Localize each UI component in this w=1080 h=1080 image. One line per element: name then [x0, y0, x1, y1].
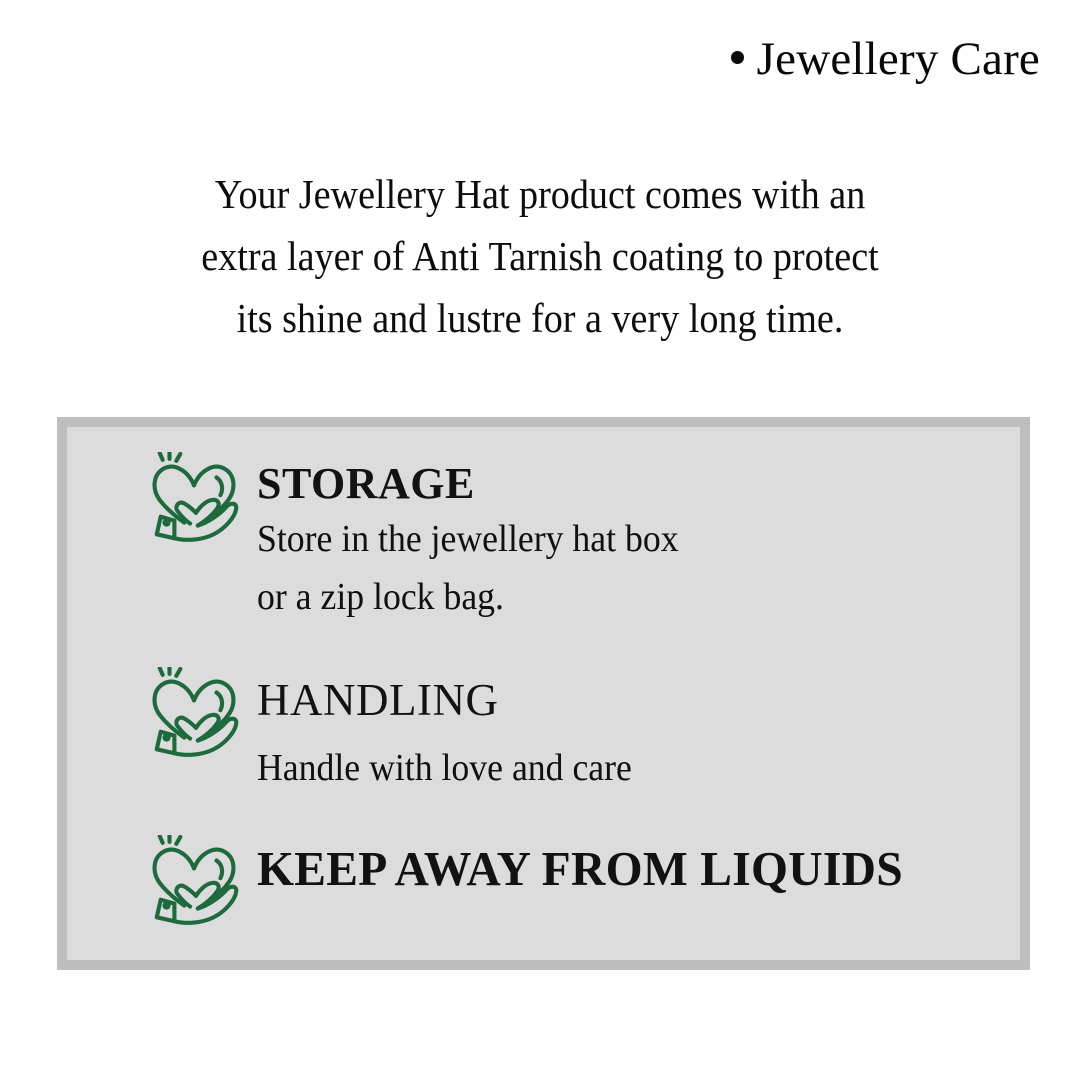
- heart-in-hand-icon: [145, 452, 243, 550]
- page-title: Jewellery Care: [40, 34, 1040, 86]
- care-row-storage-description-line-2: or a zip lock bag.: [257, 568, 679, 626]
- care-row-liquids: KEEP AWAY FROM LIQUIDS: [145, 835, 923, 933]
- care-row-handling: HANDLING Handle with love and care: [145, 667, 656, 797]
- care-row-handling-description: Handle with love and care: [257, 739, 632, 797]
- intro-paragraph: Your Jewellery Hat product comes with an…: [94, 163, 987, 349]
- page-title-text: Jewellery Care: [757, 33, 1040, 85]
- care-row-storage-description-line-1: Store in the jewellery hat box: [257, 510, 679, 568]
- care-row-storage: STORAGE Store in the jewellery hat box o…: [145, 452, 706, 626]
- care-row-handling-text: HANDLING Handle with love and care: [257, 667, 656, 797]
- heart-in-hand-icon: [145, 835, 243, 933]
- care-row-storage-heading: STORAGE: [257, 458, 706, 510]
- care-row-liquids-heading: KEEP AWAY FROM LIQUIDS: [257, 841, 903, 897]
- intro-line-1: Your Jewellery Hat product comes with an: [94, 163, 987, 225]
- care-row-storage-text: STORAGE Store in the jewellery hat box o…: [257, 452, 706, 626]
- care-row-handling-heading: HANDLING: [257, 673, 656, 727]
- care-row-handling-description-line-1: Handle with love and care: [257, 739, 632, 797]
- care-row-storage-description: Store in the jewellery hat box or a zip …: [257, 510, 679, 626]
- care-row-liquids-text: KEEP AWAY FROM LIQUIDS: [257, 835, 923, 897]
- bullet-icon: [731, 51, 744, 64]
- care-instructions-box: STORAGE Store in the jewellery hat box o…: [57, 417, 1030, 970]
- intro-line-3: its shine and lustre for a very long tim…: [94, 287, 987, 349]
- heart-in-hand-icon: [145, 667, 243, 765]
- intro-line-2: extra layer of Anti Tarnish coating to p…: [94, 225, 987, 287]
